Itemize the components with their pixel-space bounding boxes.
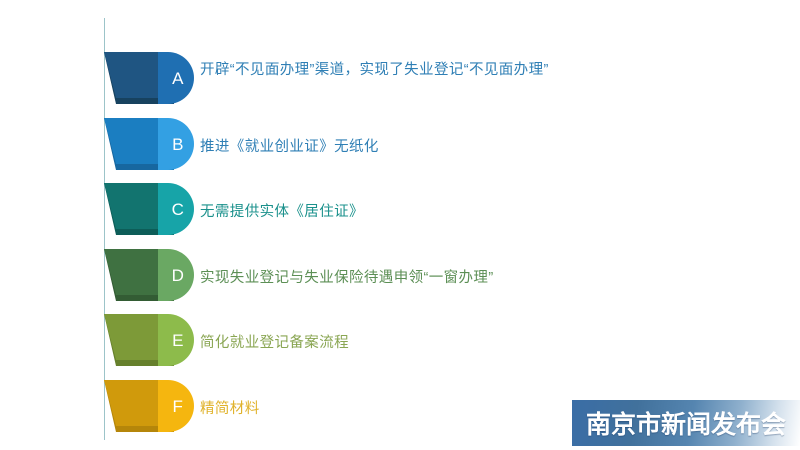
item-text: 开辟“不见面办理”渠道，实现了失业登记“不见面办理” (200, 58, 640, 83)
item-badge-c[interactable]: C (158, 183, 194, 235)
item-badge-d[interactable]: D (158, 249, 194, 301)
item-letter: A (172, 70, 184, 87)
slide-canvas: ABCDEF 南京市新闻发布会 开辟“不见面办理”渠道，实现了失业登记“不见面办… (0, 0, 800, 450)
item-letter: C (172, 201, 185, 218)
item-text: 实现失业登记与失业保险待遇申领“一窗办理” (200, 266, 640, 291)
item-text: 简化就业登记备案流程 (200, 331, 640, 356)
item-letter: F (173, 398, 184, 415)
item-letter: E (172, 332, 184, 349)
item-text: 无需提供实体《居住证》 (200, 200, 640, 225)
item-text: 精简材料 (200, 397, 640, 422)
item-badge-a[interactable]: A (158, 52, 194, 104)
item-letter: D (172, 267, 185, 284)
item-badge-e[interactable]: E (158, 314, 194, 366)
item-badge-b[interactable]: B (158, 118, 194, 170)
item-letter: B (172, 136, 184, 153)
item-badge-f[interactable]: F (158, 380, 194, 432)
item-text: 推进《就业创业证》无纸化 (200, 135, 640, 160)
